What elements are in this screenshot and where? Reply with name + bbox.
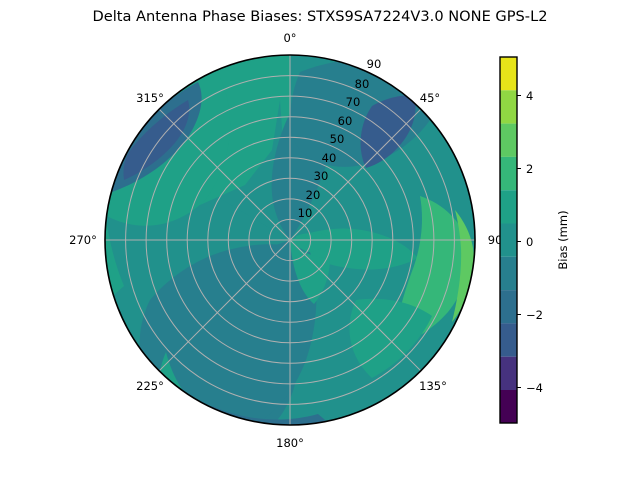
r-tick-10: 10	[298, 206, 313, 220]
cb-ticklabel-neg2: −2	[526, 308, 543, 322]
polar-grid	[105, 55, 475, 425]
r-tick-20: 20	[306, 188, 321, 202]
theta-tick-225: 225°	[136, 379, 164, 393]
colorbar-gradient	[500, 57, 517, 423]
colorbar[interactable]: 4 2 0 −2 −4 Bias (mm)	[500, 57, 570, 423]
r-tick-50: 50	[330, 132, 345, 146]
r-tick-40: 40	[322, 151, 337, 165]
cb-band-7	[500, 157, 517, 190]
cb-band-9	[500, 90, 517, 123]
cb-band-4	[500, 257, 517, 290]
theta-tick-45: 45°	[420, 91, 440, 105]
theta-tick-315: 315°	[136, 91, 164, 105]
cb-band-3	[500, 290, 517, 323]
cb-band-1	[500, 357, 517, 390]
polar-chart-svg: 0° 45° 90° 135° 180° 225° 270° 315° 10 2…	[0, 0, 640, 480]
cb-ticklabel-0: 0	[526, 235, 533, 249]
cb-band-0	[500, 390, 517, 423]
cb-band-8	[500, 124, 517, 157]
r-tick-90: 90	[367, 57, 382, 71]
r-tick-30: 30	[314, 169, 329, 183]
theta-tick-180: 180°	[276, 436, 304, 450]
polar-plot-area: 0° 45° 90° 135° 180° 225° 270° 315° 10 2…	[0, 0, 640, 480]
r-tick-60: 60	[338, 114, 353, 128]
cb-band-2	[500, 323, 517, 356]
cb-band-5	[500, 224, 517, 257]
colorbar-axis-label: Bias (mm)	[556, 210, 570, 269]
cb-ticklabel-2: 2	[526, 162, 533, 176]
theta-tick-135: 135°	[419, 379, 447, 393]
cb-ticklabel-4: 4	[526, 89, 533, 103]
r-tick-70: 70	[346, 95, 361, 109]
cb-band-10	[500, 57, 517, 90]
cb-ticklabel-neg4: −4	[526, 381, 543, 395]
theta-tick-0: 0°	[283, 31, 296, 45]
cb-band-6	[500, 190, 517, 223]
r-tick-80: 80	[355, 77, 370, 91]
theta-tick-270: 270°	[69, 233, 97, 247]
figure-canvas: Delta Antenna Phase Biases: STXS9SA7224V…	[0, 0, 640, 480]
